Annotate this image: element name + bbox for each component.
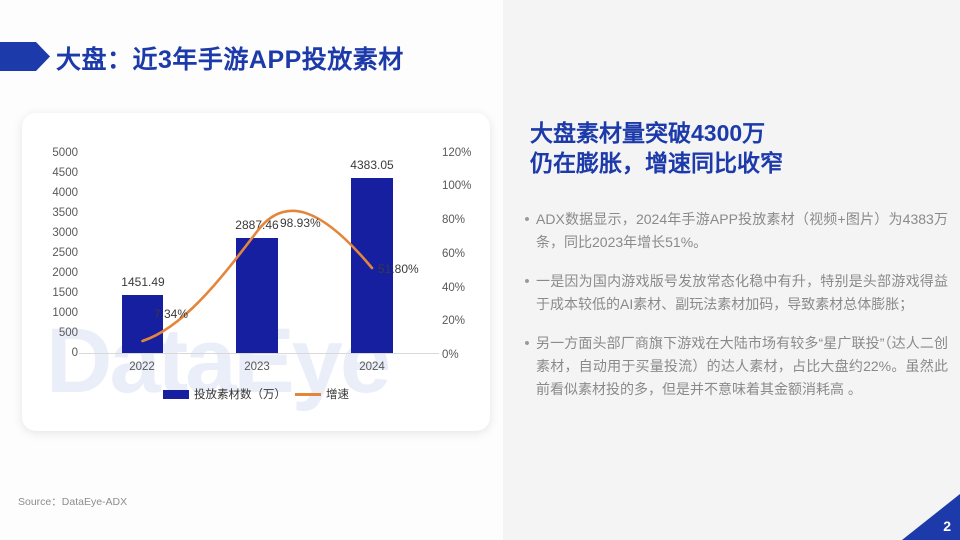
- y-right-tick: 20%: [442, 315, 486, 327]
- bullet-list: • ADX数据显示，2024年手游APP投放素材（视频+图片）为4383万条，同…: [518, 208, 948, 417]
- bullet-text: 一是因为国内游戏版号发放常态化稳中有升，特别是头部游戏得益于成本较低的AI素材、…: [536, 270, 948, 316]
- chart-card: DataEye 5000 4500 4000 3500 3000 2500 20…: [22, 113, 490, 431]
- legend-label-line: 增速: [326, 386, 349, 402]
- page-number: 2: [943, 518, 951, 534]
- y-left-tick: 1500: [34, 287, 78, 299]
- bar-2023: [236, 238, 278, 353]
- y-left-tick: 3000: [34, 227, 78, 239]
- bar-2022: [122, 295, 163, 353]
- legend-item-line: 增速: [295, 386, 349, 402]
- pct-value-2022: 7.34%: [154, 307, 188, 321]
- pct-value-2024: 51.80%: [378, 262, 419, 276]
- bullet-text: 另一方面头部厂商旗下游戏在大陆市场有较多“星广联投”（达人二创素材，自动用于买量…: [536, 332, 948, 401]
- y-right-tick: 60%: [442, 248, 486, 260]
- chart-baseline: [79, 353, 439, 354]
- legend-line-swatch-icon: [295, 393, 321, 396]
- chart-plot-area: 5000 4500 4000 3500 3000 2500 2000 1500 …: [22, 113, 490, 431]
- y-left-tick: 4500: [34, 167, 78, 179]
- y-left-tick: 4000: [34, 187, 78, 199]
- y-left-tick: 2500: [34, 247, 78, 259]
- list-item: • 一是因为国内游戏版号发放常态化稳中有升，特别是头部游戏得益于成本较低的AI素…: [518, 270, 948, 316]
- y-left-tick: 5000: [34, 147, 78, 159]
- bullet-text: ADX数据显示，2024年手游APP投放素材（视频+图片）为4383万条，同比2…: [536, 208, 948, 254]
- y-left-tick: 500: [34, 327, 78, 339]
- bar-value-2022: 1451.49: [102, 275, 184, 289]
- y-right-tick: 0%: [442, 349, 486, 361]
- bullet-marker-icon: •: [518, 270, 536, 316]
- y-right-tick: 120%: [442, 147, 486, 159]
- right-panel-heading: 大盘素材量突破4300万 仍在膨胀，增速同比收窄: [530, 118, 940, 178]
- bar-value-2024: 4383.05: [331, 158, 413, 172]
- chart-legend: 投放素材数（万） 增速: [22, 386, 490, 402]
- x-tick-2024: 2024: [342, 361, 402, 373]
- legend-bar-swatch-icon: [163, 390, 189, 399]
- y-right-tick: 80%: [442, 214, 486, 226]
- x-tick-2022: 2022: [112, 361, 172, 373]
- slide-root: 大盘：近3年手游APP投放素材 DataEye 5000 4500 4000 3…: [0, 0, 960, 540]
- bullet-marker-icon: •: [518, 332, 536, 401]
- y-left-tick: 3500: [34, 207, 78, 219]
- title-tag-shape: [0, 42, 50, 71]
- pct-value-2023: 98.93%: [280, 216, 321, 230]
- legend-label-bars: 投放素材数（万）: [194, 386, 286, 402]
- list-item: • 另一方面头部厂商旗下游戏在大陆市场有较多“星广联投”（达人二创素材，自动用于…: [518, 332, 948, 401]
- list-item: • ADX数据显示，2024年手游APP投放素材（视频+图片）为4383万条，同…: [518, 208, 948, 254]
- source-note: Source：DataEye-ADX: [18, 494, 127, 509]
- legend-item-bars: 投放素材数（万）: [163, 386, 286, 402]
- y-left-tick: 0: [34, 347, 78, 359]
- page-title: 大盘：近3年手游APP投放素材: [56, 40, 404, 76]
- y-right-tick: 40%: [442, 282, 486, 294]
- x-tick-2023: 2023: [227, 361, 287, 373]
- bullet-marker-icon: •: [518, 208, 536, 254]
- y-left-tick: 2000: [34, 267, 78, 279]
- right-panel-heading-line2: 仍在膨胀，增速同比收窄: [530, 148, 940, 178]
- right-panel-heading-line1: 大盘素材量突破4300万: [530, 118, 940, 148]
- y-left-tick: 1000: [34, 307, 78, 319]
- y-right-tick: 100%: [442, 180, 486, 192]
